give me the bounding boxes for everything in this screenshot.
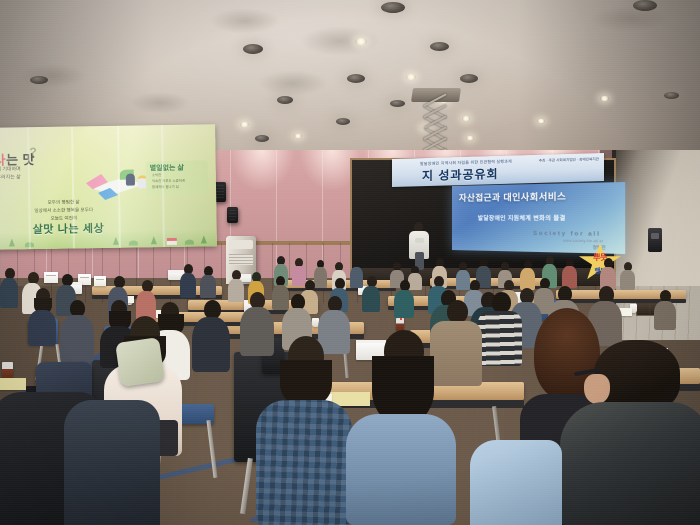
ceiling-fan-mount [243,44,263,54]
ceiling-fan-mount [381,2,405,13]
audience-member [562,258,577,288]
audience-member [362,276,380,312]
ceiling-fan-mount [633,0,657,11]
audience-member [60,300,94,362]
audience-member [256,336,352,525]
wall-campaign-banner: ? 사는 맛 에게 기대하며어우러지는 삶 모두의 평범한 삶일상에서 소소한 … [0,124,217,249]
presenter [409,222,429,270]
ceiling-stain [20,64,86,88]
audience-member [28,288,56,346]
audience-member [620,262,635,290]
ceiling-downlight [462,116,470,121]
audience-member [478,292,522,366]
audience-member [346,330,456,525]
ceiling-fan-mount [336,118,350,125]
ceiling-downlight [466,136,474,140]
ceiling-fan-mount [347,74,365,83]
ceiling-downlight [240,122,249,127]
audience-member [192,300,230,372]
handbag [115,337,165,387]
ceiling-stain [210,8,280,34]
ceiling-fan-mount [664,92,679,99]
ceiling-downlight [406,74,416,80]
ceiling-stain [130,92,190,114]
ceiling-stain [300,26,380,56]
audience-member [560,340,700,525]
table-tent-card [94,276,106,286]
ceiling-downlight [294,134,302,138]
ceiling-stain [590,6,670,32]
ceiling-fan-mount [277,96,293,104]
ceiling-stain [258,70,328,96]
audience-member [64,400,160,525]
pa-speaker-icon [227,207,238,223]
event-banner-title: 지 성과공유회 [422,165,499,184]
ceiling-fan-mount [255,135,269,142]
audience-member [180,264,196,298]
audience-member [394,280,414,318]
seminar-hall-photo: 발달장애인 지역사회 자립을 위한 민관협력 실행과제 지 성과공유회 주최 ·… [0,0,700,525]
audience-member [470,440,562,525]
event-banner-orgs: 주최 · 주관 사회복지법인 · 장애인복지관 [539,157,599,164]
wall-wash-light [230,150,294,190]
ceiling-fan-mount [390,100,405,107]
slide-english-tag: Society for all [533,231,601,238]
ceiling-downlight [537,119,545,123]
audience-member [200,266,216,298]
handout-paper [0,378,26,390]
ceiling-fan-mount [430,42,449,51]
ceiling-downlight [600,96,609,101]
slide-title: 자산접근과 대인사회서비스 [459,190,566,204]
slide-subtitle: 발달장애인 지원체계 변화의 물결 [478,214,566,223]
audience-member [520,260,535,290]
audience-member [654,290,676,330]
ear [584,374,610,404]
ceiling-fan-mount [460,74,478,83]
ceiling-fan-mount [30,76,48,84]
audience-member [0,268,18,308]
wall-control-box [648,228,662,252]
ceiling-downlight [355,38,367,45]
event-title-banner: 발달장애인 지역사회 자립을 위한 민관협력 실행과제 지 성과공유회 주최 ·… [392,153,604,187]
